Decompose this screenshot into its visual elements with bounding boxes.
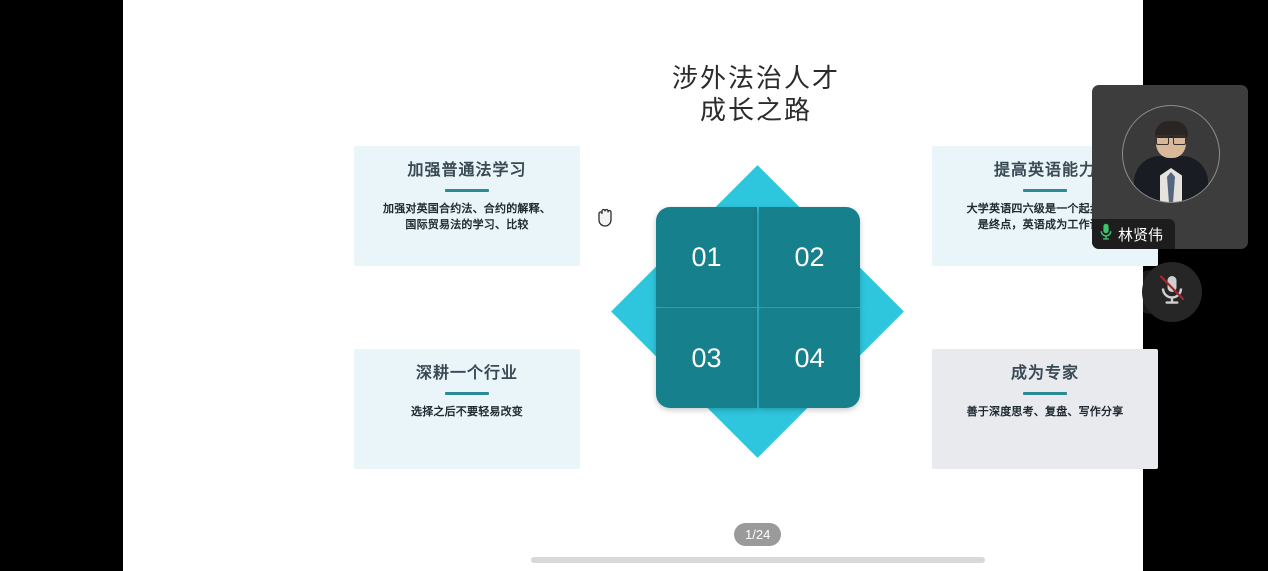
mute-button[interactable] (1142, 262, 1202, 322)
quadrant-04[interactable]: 04 (759, 308, 860, 408)
quadrant-number: 03 (691, 343, 721, 374)
quadrant-02[interactable]: 02 (759, 207, 860, 307)
quadrant-number: 01 (691, 242, 721, 273)
avatar-glasses (1156, 135, 1186, 144)
participant-name-label: 林贤伟 (1118, 224, 1163, 245)
info-card-bottom-left[interactable]: 深耕一个行业 选择之后不要轻易改变 (354, 349, 580, 469)
info-card-body: 加强对英国合约法、合约的解释、 国际贸易法的学习、比较 (366, 201, 568, 233)
avatar-suit (1134, 156, 1208, 202)
quadrant-number: 04 (794, 343, 824, 374)
screen-stage: 涉外法治人才 成长之路 加强普通法学习 加强对英国合约法、合约的解释、 国际贸易… (0, 0, 1268, 571)
quadrant-01[interactable]: 01 (656, 207, 757, 307)
info-card-title: 加强普通法学习 (366, 160, 568, 182)
slide-surface[interactable]: 涉外法治人才 成长之路 加强普通法学习 加强对英国合约法、合约的解释、 国际贸易… (123, 0, 1143, 571)
info-card-divider (445, 189, 489, 192)
slide-scrollbar[interactable] (531, 557, 985, 563)
info-card-top-left[interactable]: 加强普通法学习 加强对英国合约法、合约的解释、 国际贸易法的学习、比较 (354, 146, 580, 266)
participant-name-chip: 林贤伟 (1092, 219, 1175, 249)
info-card-title: 深耕一个行业 (366, 363, 568, 385)
info-card-title: 成为专家 (944, 363, 1146, 385)
quadrant-diagram: 01 02 03 04 (610, 156, 904, 466)
quadrant-03[interactable]: 03 (656, 308, 757, 408)
info-card-bottom-right[interactable]: 成为专家 善于深度思考、复盘、写作分享 (932, 349, 1158, 469)
quadrant-number: 02 (794, 242, 824, 273)
page-indicator: 1/24 (734, 523, 781, 546)
info-card-body: 选择之后不要轻易改变 (366, 404, 568, 420)
info-card-divider (1023, 392, 1067, 395)
participant-avatar (1122, 105, 1220, 203)
microphone-icon (1100, 223, 1112, 246)
info-card-divider (1023, 189, 1067, 192)
info-card-divider (445, 392, 489, 395)
info-card-body: 善于深度思考、复盘、写作分享 (944, 404, 1146, 420)
microphone-muted-icon (1157, 273, 1187, 312)
participant-video-tile[interactable]: 林贤伟 (1092, 85, 1248, 249)
grab-hand-cursor-icon (595, 205, 617, 229)
